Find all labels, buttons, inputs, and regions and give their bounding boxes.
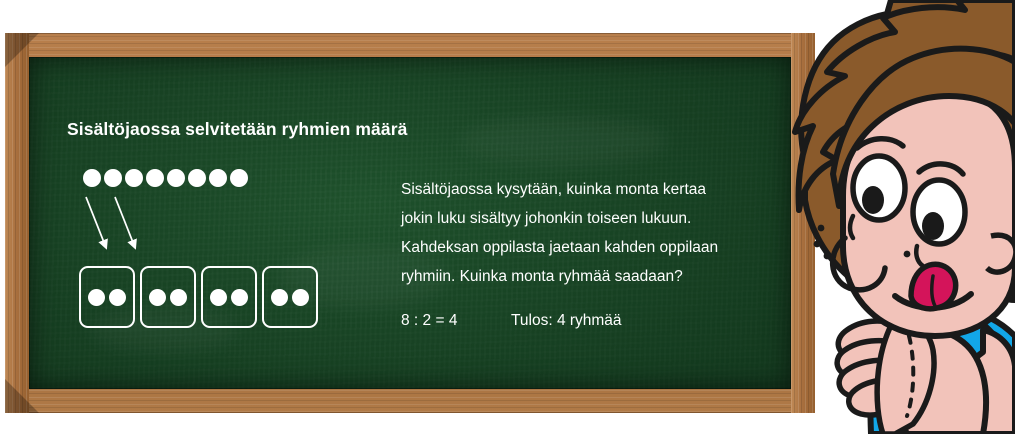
arrow-line: [115, 197, 134, 245]
page-title: Sisältöjaossa selvitetään ryhmien määrä: [67, 119, 407, 140]
dot: [231, 289, 248, 306]
result-label: Tulos: 4 ryhmää: [511, 312, 622, 330]
dot: [209, 169, 227, 187]
grouping-arrows: [67, 191, 207, 271]
freckle: [824, 253, 831, 260]
dot: [210, 289, 227, 306]
group-box: [201, 266, 257, 328]
explanation-text: Sisältöjaossa kysytään, kuinka monta ker…: [401, 175, 791, 330]
dot: [109, 289, 126, 306]
equation-row: 8 : 2 = 4 Tulos: 4 ryhmää: [401, 312, 791, 330]
dot: [230, 169, 248, 187]
dot: [146, 169, 164, 187]
group-box: [262, 266, 318, 328]
chalkboard-frame: Sisältöjaossa selvitetään ryhmien määrä: [5, 33, 815, 413]
division-diagram: [67, 169, 367, 369]
chalkboard-surface: Sisältöjaossa selvitetään ryhmien määrä: [29, 57, 791, 389]
group-box: [140, 266, 196, 328]
dot: [149, 289, 166, 306]
slide-canvas: Sisältöjaossa selvitetään ryhmien määrä: [0, 0, 1015, 434]
pupil-right: [922, 212, 944, 240]
dot: [125, 169, 143, 187]
freckle: [814, 241, 821, 248]
paragraph-line-2: jokin luku sisältyy johonkin toiseen luk…: [401, 204, 791, 233]
arrow-line: [86, 197, 105, 245]
chalk-smudge: [459, 117, 669, 165]
dot: [167, 169, 185, 187]
ear: [987, 235, 1015, 272]
dot: [292, 289, 309, 306]
dot: [188, 169, 206, 187]
freckle: [818, 225, 825, 232]
paragraph-line-4: ryhmiin. Kuinka monta ryhmää saadaan?: [401, 262, 791, 291]
cartoon-boy: [787, 0, 1015, 434]
group-boxes: [79, 266, 318, 328]
equation: 8 : 2 = 4: [401, 312, 511, 330]
dot: [170, 289, 187, 306]
pupil-left: [862, 186, 884, 214]
dot: [83, 169, 101, 187]
dot-row-total: [83, 169, 248, 187]
dot: [88, 289, 105, 306]
paragraph-line-1: Sisältöjaossa kysytään, kuinka monta ker…: [401, 175, 791, 204]
freckle: [904, 251, 911, 258]
dot: [104, 169, 122, 187]
frame-rail-left: [5, 33, 29, 413]
dot: [271, 289, 288, 306]
group-box: [79, 266, 135, 328]
paragraph-line-3: Kahdeksan oppilasta jaetaan kahden oppil…: [401, 233, 791, 262]
